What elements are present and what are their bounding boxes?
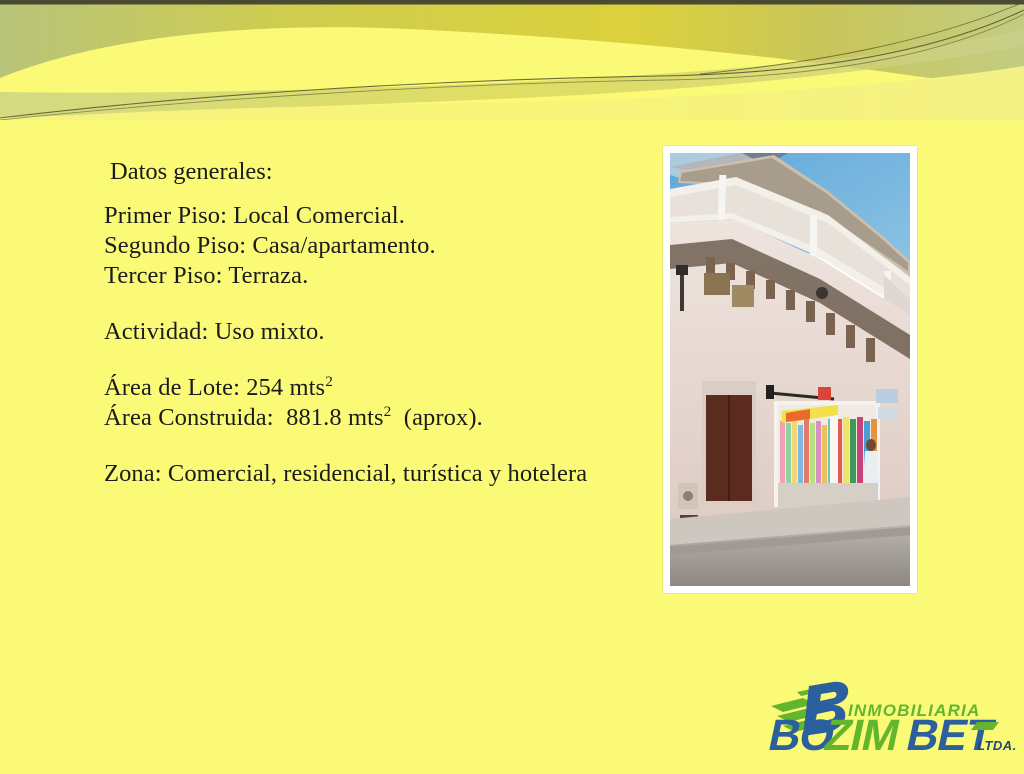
details-text-block: Datos generales: Primer Piso: Local Come…	[104, 157, 664, 489]
floor-line-3: Tercer Piso: Terraza.	[104, 261, 664, 291]
floor-line-2: Segundo Piso: Casa/apartamento.	[104, 231, 664, 261]
floor-line-1: Primer Piso: Local Comercial.	[104, 201, 664, 231]
slide-canvas: Datos generales: Primer Piso: Local Come…	[0, 0, 1024, 774]
company-logo: INMOBILIARIA BO ZIM BET LTDA.	[763, 672, 1018, 758]
property-photo-frame	[663, 146, 917, 593]
photo-red-sign	[818, 387, 831, 400]
zone-line: Zona: Comercial, residencial, turística …	[104, 459, 664, 489]
built-area-text: Área Construida: 881.8 mts	[104, 404, 384, 431]
photo-vent-window-1	[704, 273, 730, 295]
spacer-3	[104, 433, 664, 459]
lot-area-superscript: 2	[325, 373, 333, 390]
built-area-tail: (aprox).	[391, 404, 482, 431]
decorative-banner	[0, 0, 1024, 120]
spacer-1	[104, 291, 664, 317]
spacer-2	[104, 347, 664, 373]
logo-suffix: LTDA.	[977, 738, 1017, 753]
photo-vent-window-2	[732, 285, 754, 307]
photo-blue-sign	[876, 389, 898, 403]
photo-fabric-rolls	[780, 417, 877, 485]
activity-line: Actividad: Uso mixto.	[104, 317, 664, 347]
logo-wordmark: BO ZIM BET	[764, 711, 998, 758]
property-photo	[670, 153, 910, 586]
built-area-line: Área Construida: 881.8 mts2 (aprox).	[104, 403, 664, 433]
page-title: Datos generales:	[110, 157, 664, 187]
lot-area-line: Área de Lote: 254 mts2	[104, 373, 664, 403]
lot-area-text: Área de Lote: 254 mts	[104, 374, 325, 401]
logo-brand-part-2: ZIM	[820, 711, 903, 758]
banner-top-strip	[0, 0, 1024, 5]
